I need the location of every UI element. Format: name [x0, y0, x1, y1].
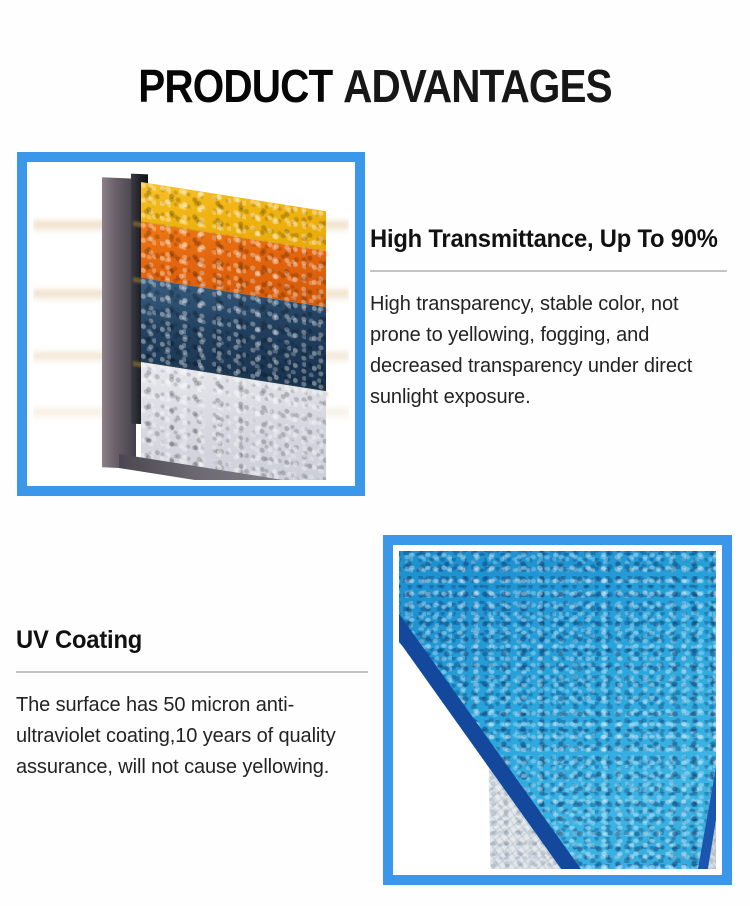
blue-embossed-sheet: [399, 551, 716, 869]
feature-divider-two: [16, 671, 368, 673]
photo-one-inner-mat: [27, 162, 355, 486]
feature-divider-one: [370, 270, 727, 272]
stacked-polycarbonate-sheets-photo: [17, 152, 365, 496]
embossed-polycarbonate-corner-photo: [383, 535, 732, 885]
page-title-part-one: PRODUCT: [138, 60, 332, 112]
feature-heading-uv-coating: UV Coating: [16, 625, 353, 655]
feature-block-high-transmittance: High Transmittance, Up To 90% High trans…: [370, 224, 730, 413]
feature-block-uv-coating: UV Coating The surface has 50 micron ant…: [16, 625, 371, 783]
sheet-stack: [33, 168, 349, 480]
page-title-part-two: ADVANTAGES: [343, 60, 612, 112]
feature-heading-high-transmittance: High Transmittance, Up To 90%: [370, 224, 712, 254]
photo-one-stage: [33, 168, 349, 480]
page-title: PRODUCT ADVANTAGES: [45, 60, 705, 112]
photo-two-stage: [399, 551, 716, 869]
photo-two-inner-mat: [393, 545, 722, 875]
feature-body-high-transmittance: High transparency, stable color, not pro…: [370, 289, 730, 413]
feature-body-uv-coating: The surface has 50 micron anti-ultraviol…: [16, 690, 371, 783]
